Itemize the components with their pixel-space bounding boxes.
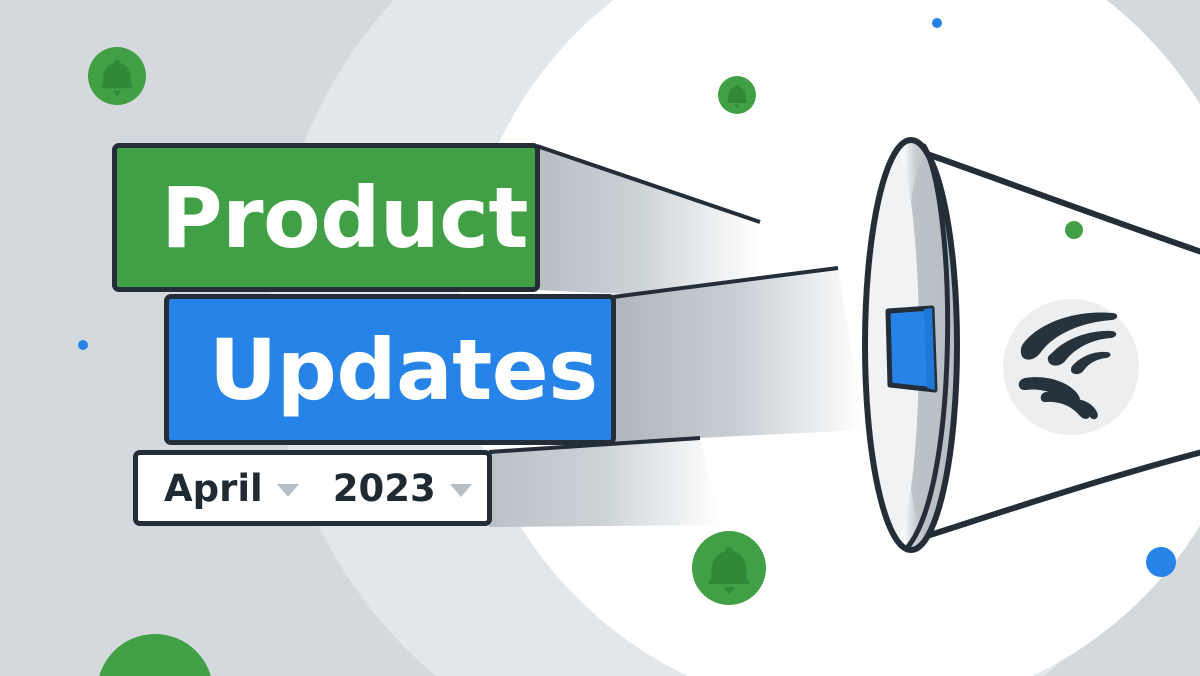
megaphone-blue-button	[888, 308, 935, 390]
month-dropdown[interactable]: April	[164, 470, 299, 507]
dot-blue-small-top	[932, 18, 942, 28]
headline-line-2: Updates	[209, 328, 598, 412]
updates-title-card: Updates	[164, 294, 616, 445]
date-selector-card: April 2023	[133, 450, 492, 526]
chevron-down-icon[interactable]	[277, 484, 299, 497]
dot-blue-large-bottom	[1146, 547, 1176, 577]
bell-badge-top-left	[88, 47, 146, 105]
swoosh-sound-wave-logo	[1003, 299, 1139, 435]
chevron-down-icon[interactable]	[450, 484, 472, 497]
headline-line-1: Product	[161, 176, 528, 260]
dot-green-on-line	[1065, 221, 1083, 239]
bell-badge-bottom	[692, 531, 766, 605]
year-value: 2023	[333, 470, 436, 507]
year-dropdown[interactable]: 2023	[333, 470, 472, 507]
month-value: April	[164, 470, 263, 507]
dot-blue-small-left	[78, 340, 88, 350]
product-title-card: Product	[112, 143, 540, 292]
banner-canvas: Product Updates April 2023	[0, 0, 1200, 676]
bell-badge-top-mid	[718, 76, 756, 114]
